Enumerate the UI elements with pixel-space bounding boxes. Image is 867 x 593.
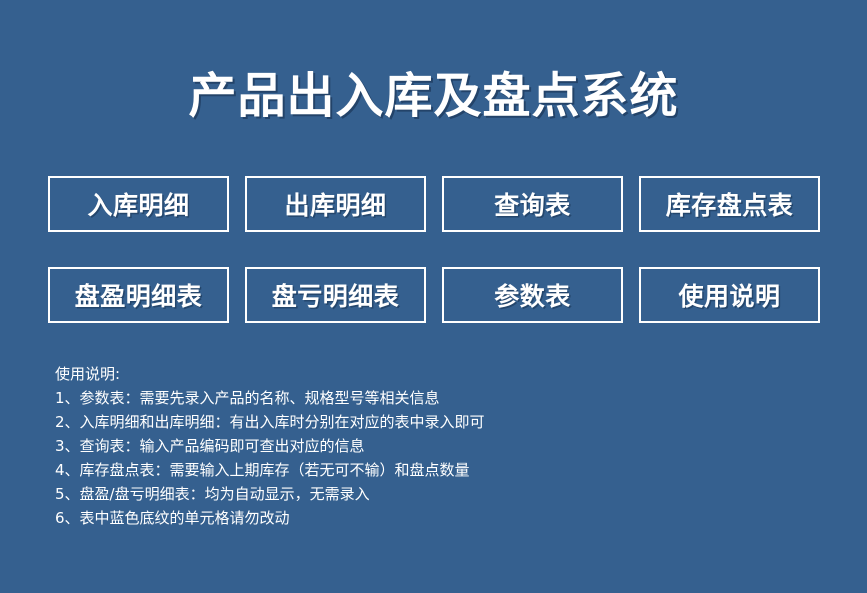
instruction-line-2: 2、入库明细和出库明细：有出入库时分别在对应的表中录入即可 [55, 410, 835, 434]
instruction-line-4: 4、库存盘点表：需要输入上期库存（若无可不输）和盘点数量 [55, 458, 835, 482]
instruction-line-3: 3、查询表：输入产品编码即可查出对应的信息 [55, 434, 835, 458]
instruction-line-5: 5、盘盈/盘亏明细表：均为自动显示，无需录入 [55, 482, 835, 506]
nav-button-usage-instructions[interactable]: 使用说明 [639, 267, 820, 323]
nav-button-inventory-count-table[interactable]: 库存盘点表 [639, 176, 820, 232]
instruction-line-6: 6、表中蓝色底纹的单元格请勿改动 [55, 506, 835, 530]
instructions-heading: 使用说明: [55, 362, 835, 386]
nav-button-shortage-detail-table[interactable]: 盘亏明细表 [245, 267, 426, 323]
instruction-line-1: 1、参数表：需要先录入产品的名称、规格型号等相关信息 [55, 386, 835, 410]
nav-button-inbound-detail[interactable]: 入库明细 [48, 176, 229, 232]
nav-button-query-table[interactable]: 查询表 [442, 176, 623, 232]
nav-button-outbound-detail[interactable]: 出库明细 [245, 176, 426, 232]
instructions-block: 使用说明: 1、参数表：需要先录入产品的名称、规格型号等相关信息 2、入库明细和… [55, 362, 835, 530]
app-root: 产品出入库及盘点系统 入库明细 出库明细 查询表 库存盘点表 盘盈明细表 盘亏明… [0, 0, 867, 593]
page-title-container: 产品出入库及盘点系统 [0, 38, 867, 155]
page-title: 产品出入库及盘点系统 [188, 70, 678, 123]
navigation-button-grid: 入库明细 出库明细 查询表 库存盘点表 盘盈明细表 盘亏明细表 参数表 使用说明 [48, 176, 820, 323]
nav-button-parameter-table[interactable]: 参数表 [442, 267, 623, 323]
nav-button-surplus-detail-table[interactable]: 盘盈明细表 [48, 267, 229, 323]
